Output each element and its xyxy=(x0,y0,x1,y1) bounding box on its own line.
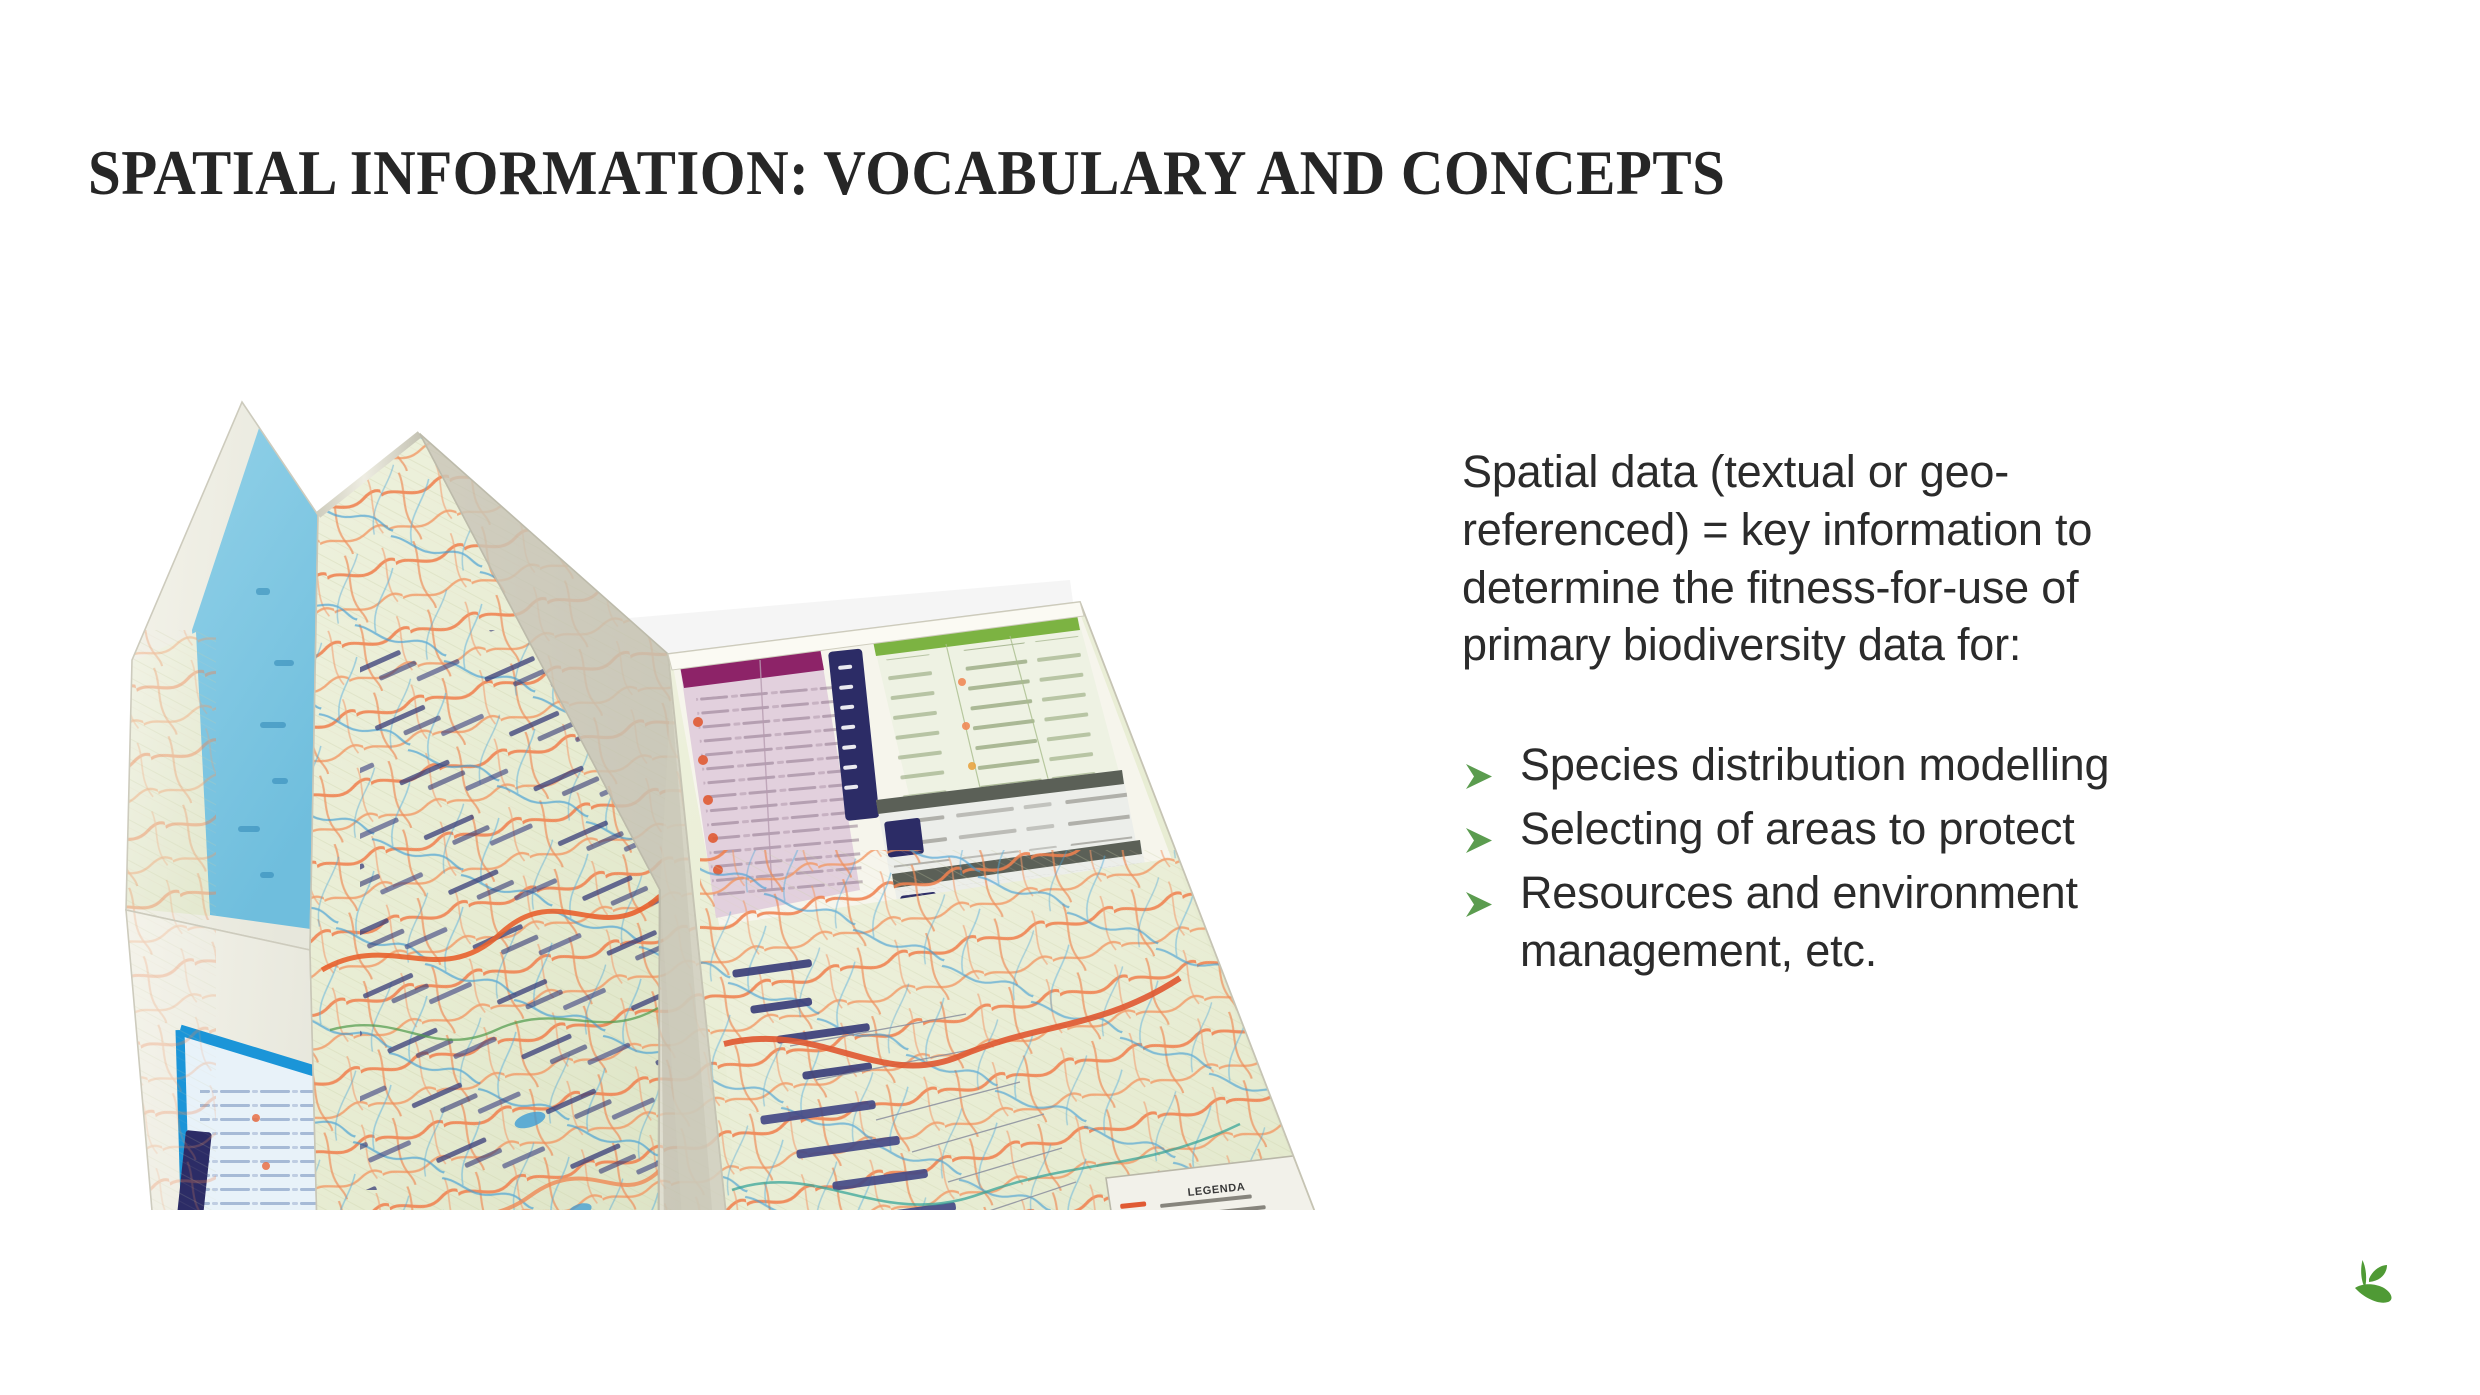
intro-paragraph: Spatial data (textual or geo-referenced)… xyxy=(1462,443,2202,674)
list-item: Selecting of areas to protect xyxy=(1462,800,2202,858)
bullet-list: Species distribution modelling Selecting… xyxy=(1462,736,2202,979)
list-item: Species distribution modelling xyxy=(1462,736,2202,794)
map-panel-water xyxy=(126,402,322,950)
list-item-label: Selecting of areas to protect xyxy=(1520,803,2075,854)
sprout-leaf-logo xyxy=(2342,1252,2408,1318)
page-title: SPATIAL INFORMATION: VOCABULARY AND CONC… xyxy=(88,142,2052,205)
list-item: Resources and environment management, et… xyxy=(1462,864,2202,980)
list-item-label: Resources and environment management, et… xyxy=(1520,867,2078,976)
arrowhead-bullet-icon xyxy=(1462,878,1496,912)
arrowhead-bullet-icon xyxy=(1462,814,1496,848)
content-text-column: Spatial data (textual or geo-referenced)… xyxy=(1462,398,2202,986)
list-item-label: Species distribution modelling xyxy=(1520,739,2109,790)
folded-paper-map-photo: LEGENDA xyxy=(60,330,1380,1210)
slide-canvas: SPATIAL INFORMATION: VOCABULARY AND CONC… xyxy=(0,0,2480,1395)
map-panel-terrain-right: LEGENDA xyxy=(668,602,1380,1210)
arrowhead-bullet-icon xyxy=(1462,750,1496,784)
